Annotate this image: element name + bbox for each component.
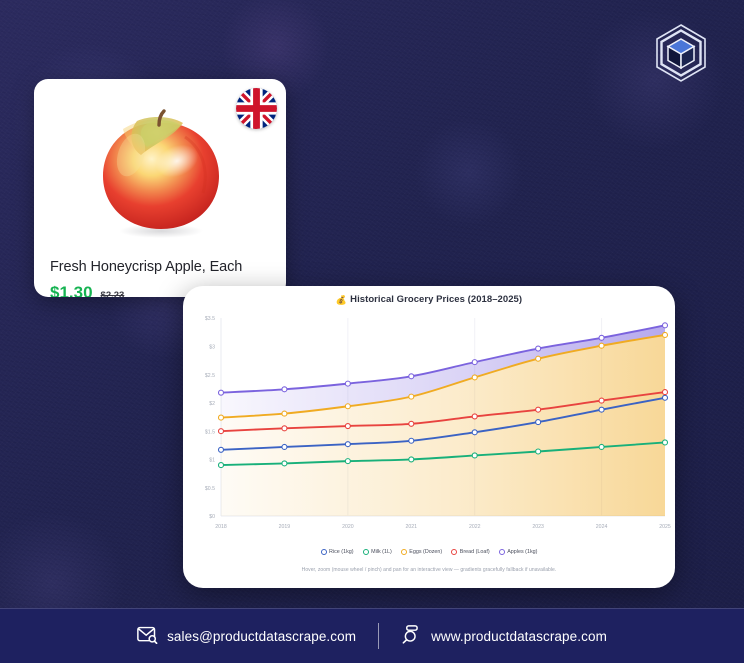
current-price: $1.30: [50, 283, 93, 297]
footer-website-text: www.productdatascrape.com: [431, 629, 607, 644]
chart-card[interactable]: 💰Historical Grocery Prices (2018–2025) $…: [183, 286, 675, 588]
legend-marker-icon: [363, 549, 369, 555]
legend-item[interactable]: Apples (1kg): [499, 549, 538, 555]
web-search-icon: [401, 625, 422, 647]
svg-text:$0: $0: [209, 514, 215, 520]
product-card[interactable]: Fresh Honeycrisp Apple, Each $1.30 $2.23: [34, 79, 286, 297]
svg-text:$1.5: $1.5: [205, 429, 215, 435]
chart-footnote: Hover, zoom (mouse wheel / pinch) and pa…: [183, 567, 675, 573]
legend-label: Eggs (Dozen): [409, 549, 442, 555]
svg-text:2020: 2020: [342, 524, 354, 530]
legend-item[interactable]: Bread (Loaf): [451, 549, 489, 555]
money-bag-icon: 💰: [336, 295, 347, 306]
legend-item[interactable]: Eggs (Dozen): [401, 549, 442, 555]
legend-item[interactable]: Rice (1kg): [321, 549, 354, 555]
svg-text:$0.5: $0.5: [205, 486, 215, 492]
legend-marker-icon: [451, 549, 457, 555]
legend-label: Rice (1kg): [329, 549, 354, 555]
product-title: Fresh Honeycrisp Apple, Each: [50, 259, 242, 275]
svg-text:2023: 2023: [532, 524, 544, 530]
legend-label: Apples (1kg): [507, 549, 537, 555]
email-search-icon: [137, 626, 158, 647]
chart-legend[interactable]: Rice (1kg)Milk (1L)Eggs (Dozen)Bread (Lo…: [183, 549, 675, 555]
chart-title-text: Historical Grocery Prices (2018–2025): [350, 294, 522, 305]
svg-text:$1: $1: [209, 458, 215, 464]
svg-text:2024: 2024: [596, 524, 608, 530]
legend-item[interactable]: Milk (1L): [363, 549, 392, 555]
svg-text:$3: $3: [209, 344, 215, 350]
footer-email[interactable]: sales@productdatascrape.com: [137, 626, 356, 647]
svg-text:2022: 2022: [469, 524, 481, 530]
chart-title: 💰Historical Grocery Prices (2018–2025): [183, 294, 675, 306]
hexagon-cube-logo: [650, 22, 712, 84]
svg-text:2018: 2018: [215, 524, 227, 530]
legend-marker-icon: [499, 549, 505, 555]
legend-marker-icon: [321, 549, 327, 555]
honeycrisp-apple-image: [34, 93, 286, 253]
line-chart-plot[interactable]: $0$0.5$1$1.5$2$2.5$3$3.52018201920202021…: [183, 310, 675, 548]
svg-text:2025: 2025: [659, 524, 671, 530]
svg-text:$3.5: $3.5: [205, 316, 215, 322]
price-row: $1.30 $2.23: [50, 283, 124, 297]
legend-marker-icon: [401, 549, 407, 555]
footer-divider: [378, 623, 379, 649]
svg-text:2019: 2019: [279, 524, 291, 530]
legend-label: Bread (Loaf): [460, 549, 490, 555]
svg-text:$2: $2: [209, 401, 215, 407]
footer-bar: sales@productdatascrape.com www.productd…: [0, 608, 744, 663]
original-price: $2.23: [101, 290, 125, 297]
legend-label: Milk (1L): [371, 549, 392, 555]
footer-website[interactable]: www.productdatascrape.com: [401, 625, 607, 647]
svg-text:$2.5: $2.5: [205, 373, 215, 379]
footer-email-text: sales@productdatascrape.com: [167, 629, 356, 644]
svg-text:2021: 2021: [406, 524, 418, 530]
